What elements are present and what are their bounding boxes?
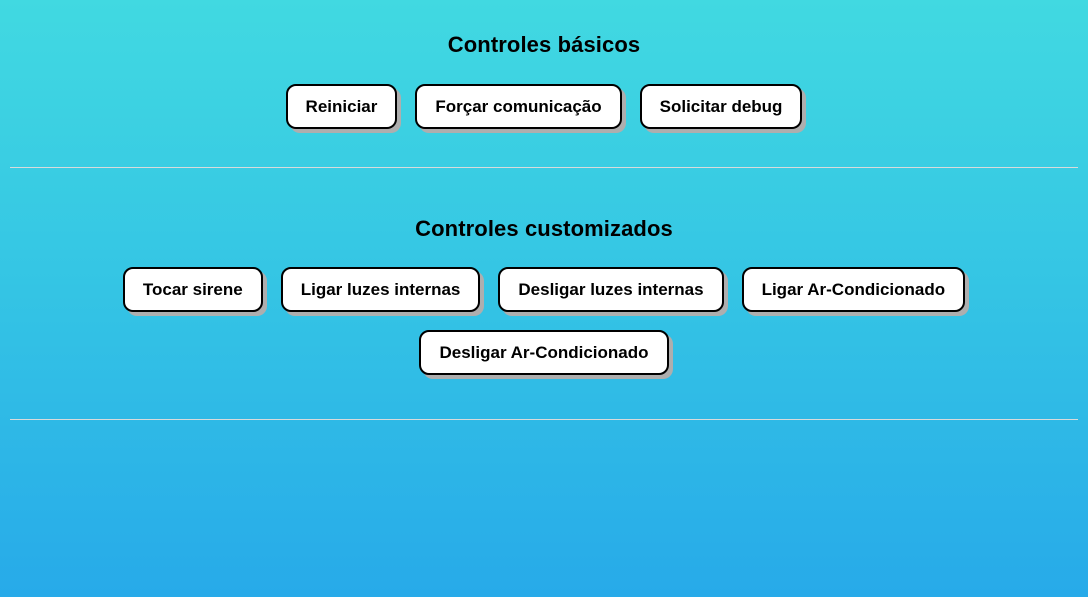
ligar-luzes-internas-button[interactable]: Ligar luzes internas xyxy=(281,267,481,312)
tocar-sirene-button[interactable]: Tocar sirene xyxy=(123,267,263,312)
empty-content-area xyxy=(0,420,1088,597)
custom-controls-section: Controles customizados Tocar sirene Liga… xyxy=(0,168,1088,384)
custom-controls-heading: Controles customizados xyxy=(0,168,1088,242)
desligar-luzes-internas-button[interactable]: Desligar luzes internas xyxy=(498,267,723,312)
basic-controls-heading: Controles básicos xyxy=(0,0,1088,58)
control-panel-page: Controles básicos Reiniciar Forçar comun… xyxy=(0,0,1088,597)
custom-controls-button-row: Tocar sirene Ligar luzes internas Deslig… xyxy=(0,258,1088,384)
basic-controls-section: Controles básicos Reiniciar Forçar comun… xyxy=(0,0,1088,138)
desligar-ar-condicionado-button[interactable]: Desligar Ar-Condicionado xyxy=(419,330,668,375)
ligar-ar-condicionado-button[interactable]: Ligar Ar-Condicionado xyxy=(742,267,966,312)
basic-controls-button-row: Reiniciar Forçar comunicação Solicitar d… xyxy=(0,75,1088,138)
solicitar-debug-button[interactable]: Solicitar debug xyxy=(640,84,803,129)
reiniciar-button[interactable]: Reiniciar xyxy=(286,84,398,129)
forcar-comunicacao-button[interactable]: Forçar comunicação xyxy=(415,84,621,129)
